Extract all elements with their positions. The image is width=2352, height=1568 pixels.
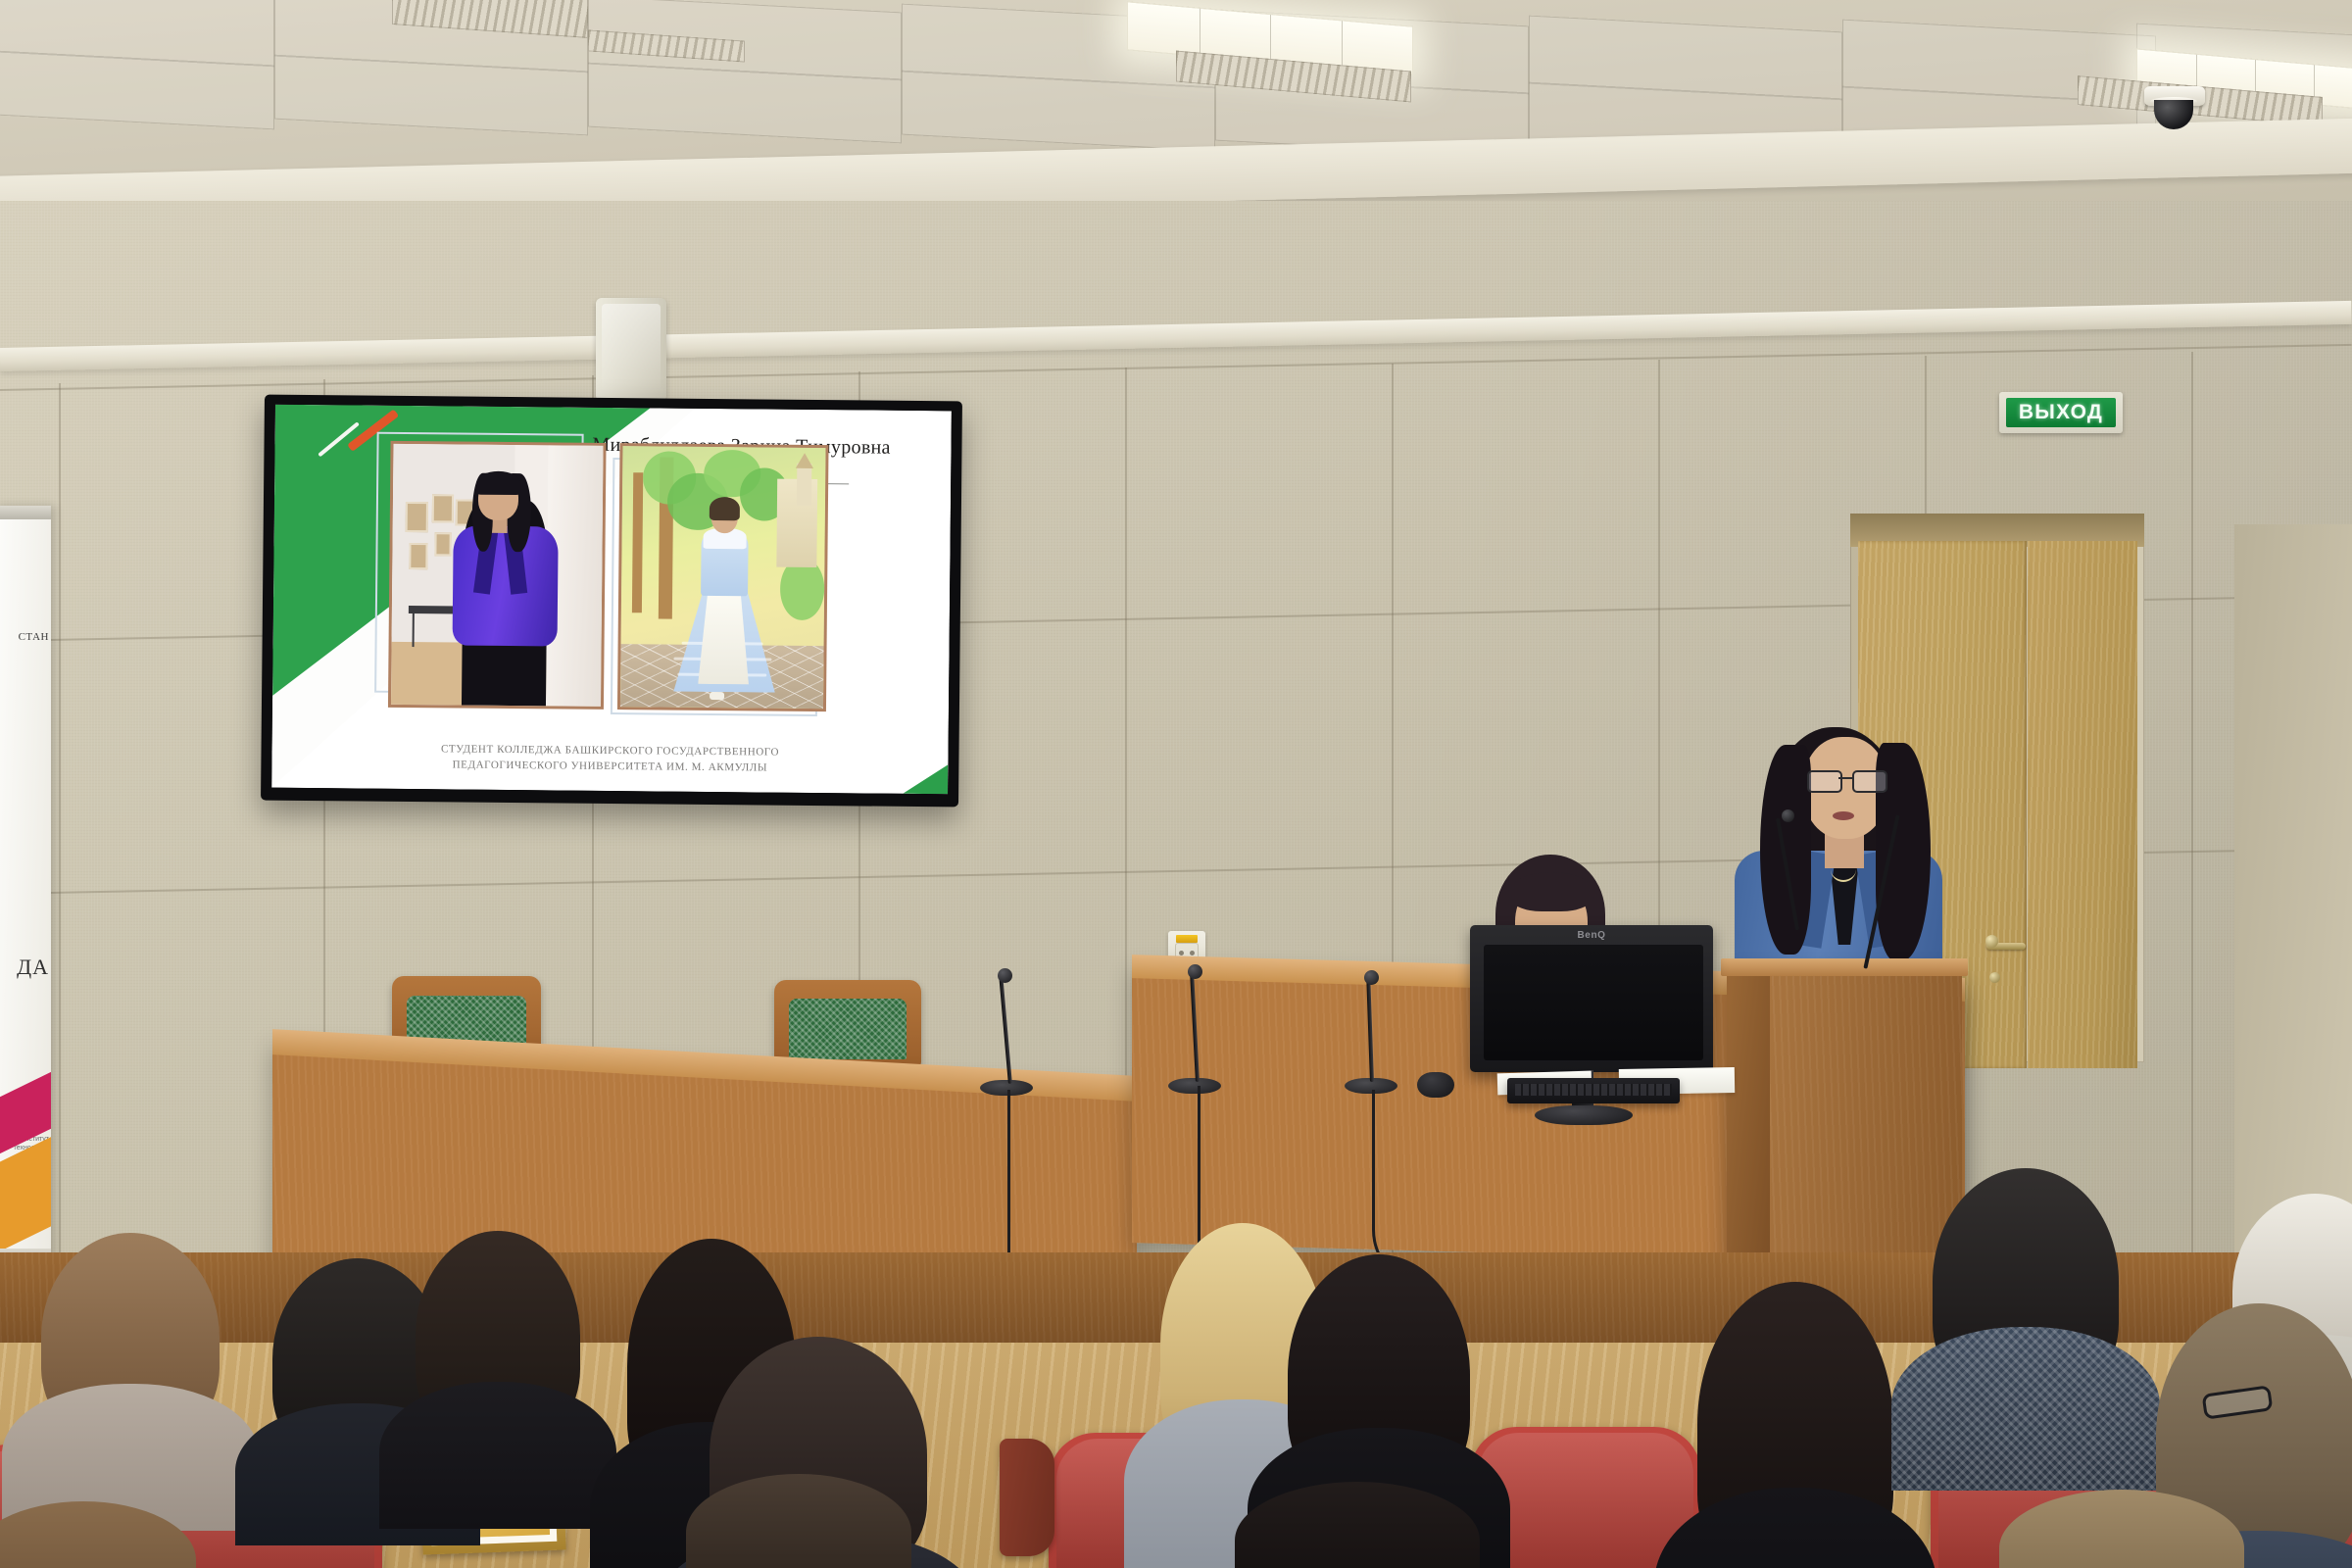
audience-person [1288,1254,1470,1495]
slide-caption: СТУДЕНТ КОЛЛЕДЖА БАШКИРСКОГО ГОСУДАРСТВЕ… [325,741,894,777]
audience-person [416,1231,580,1441]
exit-sign: ВЫХОД [1999,392,2123,433]
audience-person [41,1233,220,1443]
wall-mounted-tv: Мирабдуллаева Зарина Тимуровна [261,395,962,808]
laptop-keyboard[interactable] [1507,1078,1680,1103]
conference-hall-photo: ВЫХОД СТАН ДА Институт технологии Мирабд… [0,0,2352,1568]
table-microphone [1168,964,1221,1094]
door-leaf-right[interactable] [2028,541,2137,1068]
ceiling [0,0,2352,211]
door-lock-icon [1989,972,2000,983]
exit-sign-label: ВЫХОД [2019,401,2103,424]
presentation-slide: Мирабдуллаева Зарина Тимуровна [271,405,952,795]
banner-text-mid: ДА [17,955,49,980]
audience-person [1697,1282,1893,1568]
banner-text-top: СТАН [19,631,49,643]
tv-bezel: Мирабдуллаева Зарина Тимуровна [271,405,952,795]
seat-armrest [1000,1439,1054,1556]
monitor-brand-label: BenQ [1577,930,1605,941]
wall-return-panel [2234,524,2352,1298]
audience-person [1933,1168,2119,1396]
benq-monitor: BenQ [1470,925,1713,1072]
presidium-chair[interactable] [774,980,921,1066]
audience-person [1235,1482,1480,1568]
podium-top [1721,958,1968,976]
podium-microphone-capsule [1782,809,1794,822]
table-microphone [980,968,1033,1096]
door-knob-icon[interactable] [1985,935,1998,948]
audience-person [0,1501,196,1568]
audience-person [1999,1490,2244,1568]
table-microphone [1345,968,1397,1094]
eyeglasses-icon [1807,770,1884,789]
slide-photo-left [391,444,603,707]
monitor-base [1535,1105,1633,1125]
rollup-banner: СТАН ДА Институт технологии [0,506,51,1262]
slide-photo-right [620,446,826,709]
podium-side-panel [1727,976,1770,1260]
wall-speaker-icon [596,298,666,400]
audience-person [686,1474,911,1568]
